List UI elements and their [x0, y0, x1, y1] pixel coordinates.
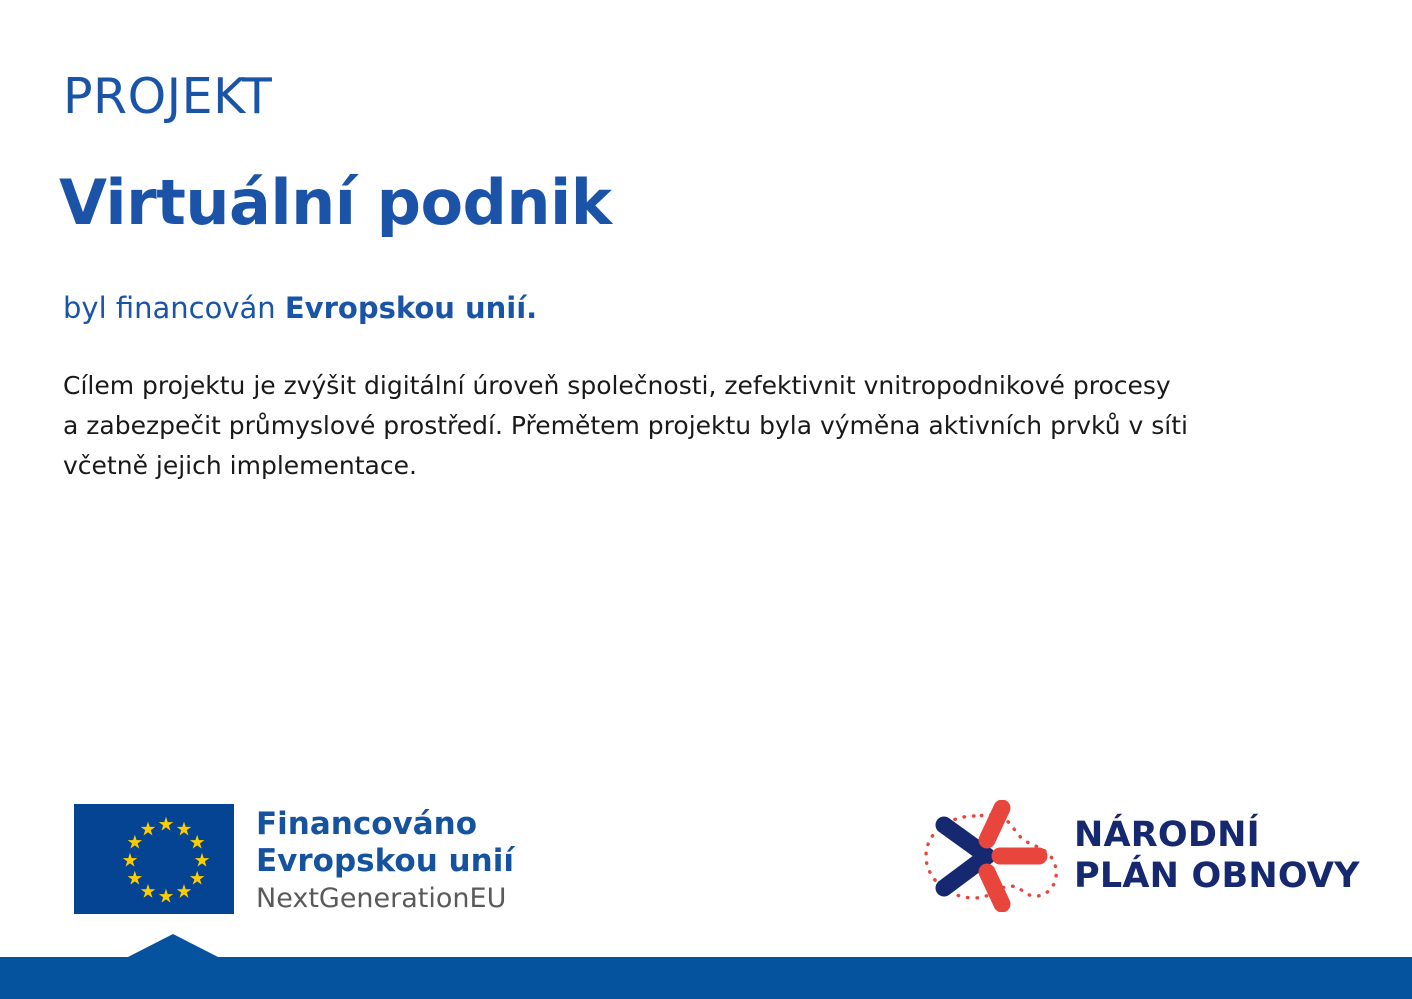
funding-statement-bold: Evropskou unií. — [285, 291, 537, 325]
eu-funding-line-2: Evropskou unií — [256, 843, 514, 880]
eu-flag-icon — [74, 804, 234, 914]
funding-statement-regular: byl financován — [63, 291, 285, 325]
project-funding-poster: PROJEKT Virtuální podnik byl financován … — [0, 0, 1412, 999]
nextgeneration-eu-label: NextGenerationEU — [256, 882, 514, 916]
bottom-bar-notch — [128, 934, 218, 957]
eu-funding-text: Financováno Evropskou unií NextGeneratio… — [256, 804, 514, 916]
project-description: Cílem projektu je zvýšit digitální úrove… — [63, 366, 1293, 486]
bottom-bar — [0, 957, 1412, 999]
description-line: Cílem projektu je zvýšit digitální úrove… — [63, 366, 1293, 406]
npo-line-1: NÁRODNÍ — [1074, 815, 1360, 856]
kicker-label: PROJEKT — [63, 72, 272, 121]
description-line: a zabezpečit průmyslové prostředí. Přemě… — [63, 406, 1293, 446]
npo-line-2: PLÁN OBNOVY — [1074, 856, 1360, 897]
page-title: Virtuální podnik — [59, 172, 612, 234]
description-line: včetně jejich implementace. — [63, 446, 1293, 486]
eu-funding-logo: Financováno Evropskou unií NextGeneratio… — [74, 804, 514, 916]
narodni-plan-obnovy-mark-icon — [914, 800, 1066, 912]
funding-statement: byl financován Evropskou unií. — [63, 294, 537, 323]
narodni-plan-obnovy-text: NÁRODNÍ PLÁN OBNOVY — [1074, 815, 1360, 897]
narodni-plan-obnovy-logo: NÁRODNÍ PLÁN OBNOVY — [914, 800, 1360, 912]
eu-funding-line-1: Financováno — [256, 806, 514, 843]
